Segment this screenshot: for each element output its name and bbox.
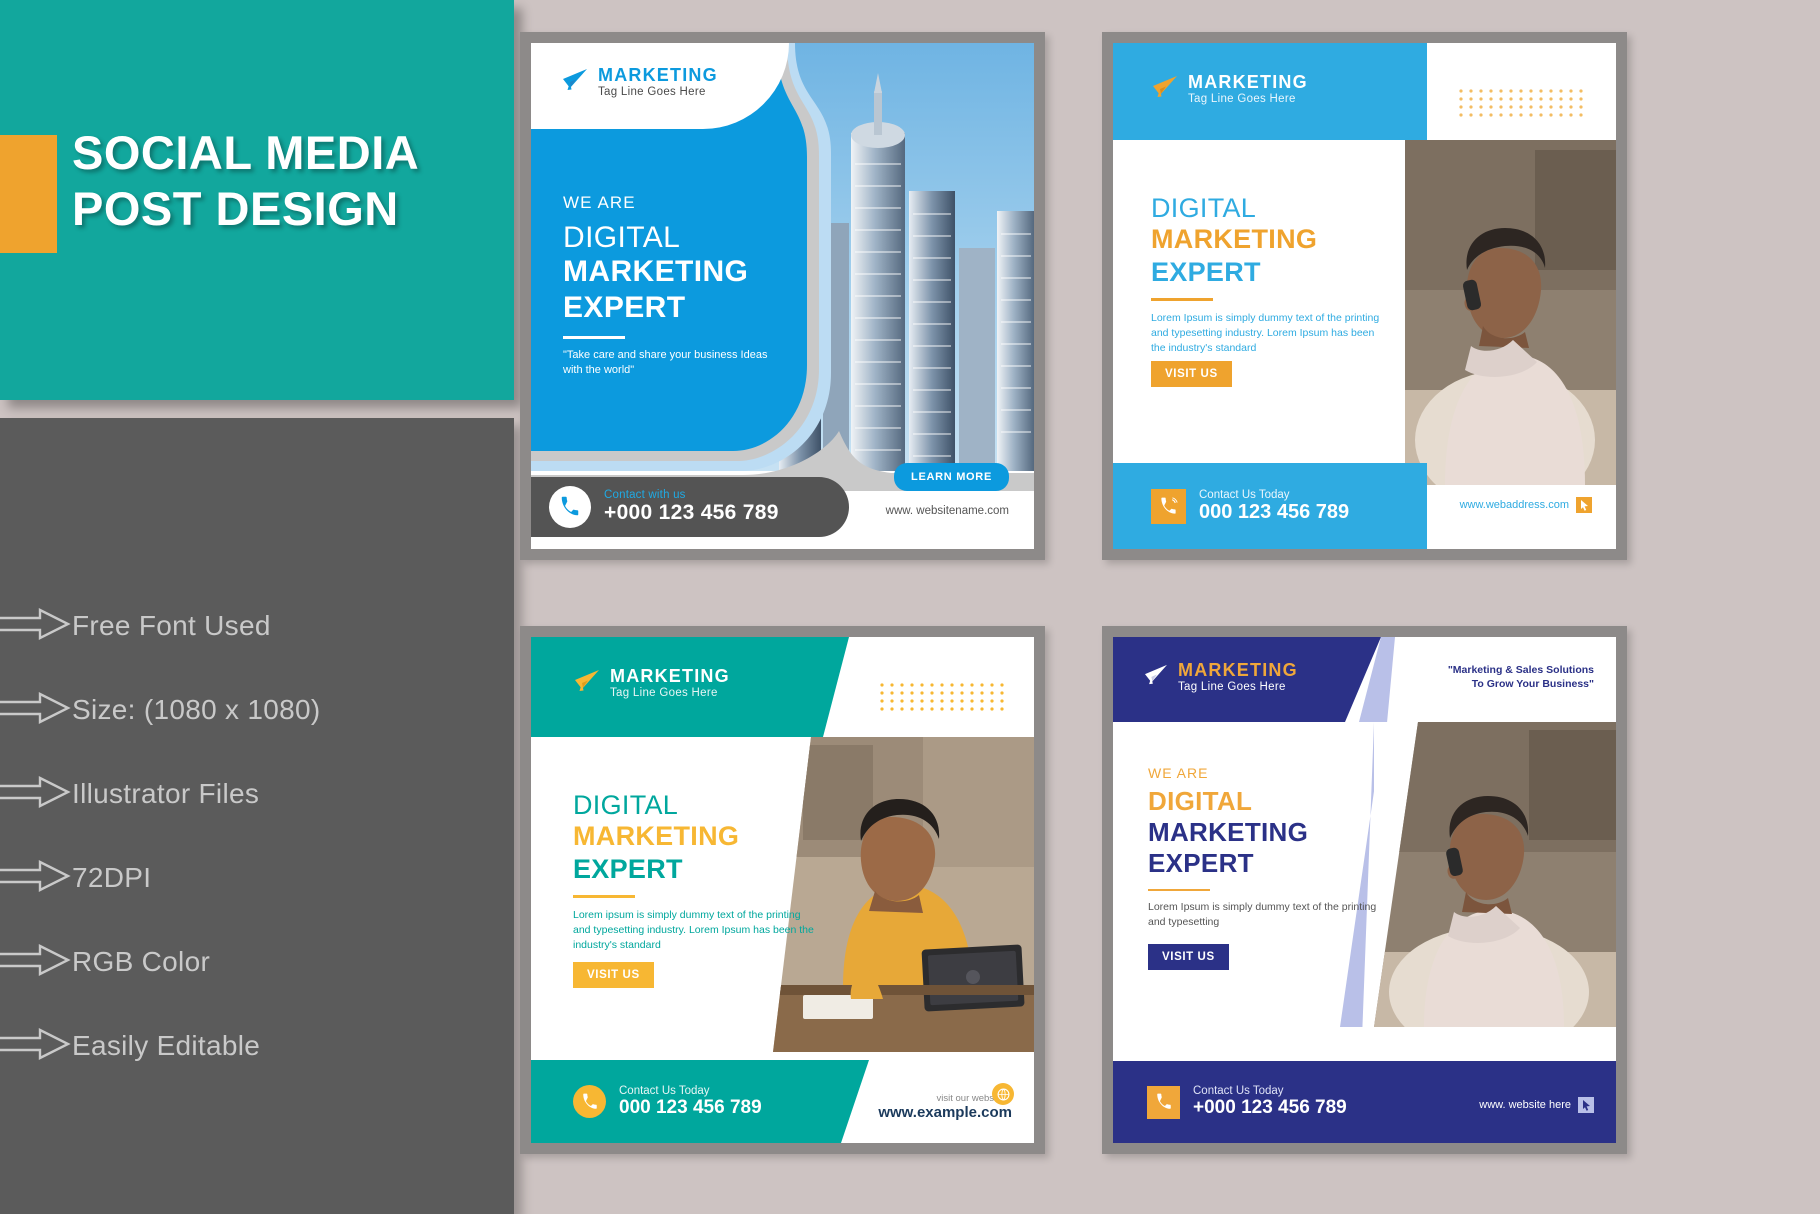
phone-ringing-icon (1151, 489, 1186, 524)
post-preview-blue-skyline[interactable]: MARKETING Tag Line Goes Here WE ARE DIGI… (520, 32, 1045, 560)
header-tagline-line2: To Grow Your Business" (1448, 677, 1594, 691)
learn-more-button[interactable]: LEARN MORE (894, 463, 1009, 491)
list-item: Easily Editable (0, 1004, 514, 1088)
spec-label: Size: (1080 x 1080) (72, 694, 321, 726)
phone-icon (549, 486, 591, 528)
website-link[interactable]: visit our website... www.example.com (878, 1093, 1012, 1121)
paper-plane-icon (573, 669, 601, 698)
brand-tagline: Tag Line Goes Here (1178, 680, 1298, 694)
cover-title-panel: SOCIAL MEDIA POST DESIGN (0, 0, 514, 400)
globe-icon (992, 1083, 1014, 1105)
spec-label: 72DPI (72, 862, 151, 894)
title-accent-block (0, 135, 57, 253)
divider-rule (563, 336, 625, 339)
headline-expert: EXPERT (1148, 848, 1383, 879)
contact-footer-bar: Contact with us +000 123 456 789 (531, 477, 849, 537)
paper-plane-icon (561, 68, 589, 97)
brand-tagline: Tag Line Goes Here (598, 85, 718, 99)
body-text: Lorem Ipsum is simply dummy text of the … (1148, 900, 1383, 930)
divider-rule (1151, 298, 1213, 301)
website-url: www.example.com (878, 1104, 1012, 1121)
post-copy-block: WE ARE DIGITAL MARKETING EXPERT "Take ca… (563, 193, 778, 378)
arrow-right-outline-icon (0, 775, 72, 814)
halftone-dots-icon (1458, 88, 1586, 123)
post-copy-block: DIGITAL MARKETING EXPERT Lorem ipsum is … (573, 790, 818, 953)
cursor-icon (1578, 1097, 1594, 1113)
left-info-column: SOCIAL MEDIA POST DESIGN Free Font Used … (0, 0, 520, 1214)
divider-rule (573, 895, 635, 898)
halftone-dots-icon (879, 682, 1007, 717)
brand-logo-text: MARKETING Tag Line Goes Here (598, 66, 718, 99)
businessman-phone-photo (1405, 140, 1616, 485)
website-url: www.webaddress.com (1460, 499, 1569, 511)
headline-marketing: MARKETING (1151, 223, 1391, 255)
headline-marketing: MARKETING (1148, 817, 1383, 848)
list-item: Illustrator Files (0, 752, 514, 836)
brand-tagline: Tag Line Goes Here (1188, 92, 1308, 106)
headline-digital: DIGITAL (573, 790, 818, 820)
body-text: Lorem Ipsum is simply dummy text of the … (1151, 311, 1391, 357)
list-item: Size: (1080 x 1080) (0, 668, 514, 752)
arrow-right-outline-icon (0, 859, 72, 898)
contact-info: Contact Us Today 000 123 456 789 (619, 1085, 762, 1119)
spec-label: Easily Editable (72, 1030, 260, 1062)
brand-logo: MARKETING Tag Line Goes Here (1143, 661, 1298, 694)
brand-name: MARKETING (1178, 661, 1298, 680)
brand-logo: MARKETING Tag Line Goes Here (573, 667, 730, 700)
page-title-line1: SOCIAL MEDIA (72, 125, 492, 181)
contact-number: +000 123 456 789 (604, 501, 779, 525)
contact-info: Contact Us Today 000 123 456 789 (1199, 489, 1349, 524)
brand-logo-text: MARKETING Tag Line Goes Here (1178, 661, 1298, 694)
quote-text: "Take care and share your business Ideas… (563, 348, 778, 378)
contact-info: Contact with us +000 123 456 789 (604, 489, 779, 525)
headline-expert: EXPERT (563, 290, 778, 325)
headline-digital: DIGITAL (1151, 193, 1391, 223)
spec-list: Free Font Used Size: (1080 x 1080) Illus… (0, 584, 514, 1088)
brand-name: MARKETING (610, 667, 730, 686)
brand-tagline: Tag Line Goes Here (610, 686, 730, 700)
website-url[interactable]: www. websitename.com (886, 505, 1009, 517)
headline-digital: DIGITAL (563, 222, 778, 254)
brand-logo-text: MARKETING Tag Line Goes Here (1188, 73, 1308, 106)
brand-logo-text: MARKETING Tag Line Goes Here (610, 667, 730, 700)
spec-label: RGB Color (72, 946, 210, 978)
eyebrow-text: WE ARE (563, 193, 778, 213)
eyebrow-text: WE ARE (1148, 765, 1383, 781)
post-copy-block: WE ARE DIGITAL MARKETING EXPERT Lorem Ip… (1148, 765, 1383, 931)
arrow-right-outline-icon (0, 943, 72, 982)
page-title-line2: POST DESIGN (72, 181, 492, 237)
contact-label: Contact with us (604, 489, 779, 501)
list-item: Free Font Used (0, 584, 514, 668)
contact-label: Contact Us Today (1199, 489, 1349, 501)
phone-icon (573, 1085, 606, 1118)
headline-digital: DIGITAL (1148, 786, 1383, 817)
headline-expert: EXPERT (573, 853, 818, 885)
contact-info: Contact Us Today +000 123 456 789 (1193, 1085, 1347, 1119)
paper-plane-icon (1143, 664, 1169, 691)
header-tagline: "Marketing & Sales Solutions To Grow You… (1448, 663, 1594, 691)
phone-icon (1147, 1086, 1180, 1119)
spec-label: Illustrator Files (72, 778, 259, 810)
website-link[interactable]: www. website here (1479, 1097, 1594, 1113)
businessman-phone-photo (1374, 722, 1616, 1027)
post-previews-grid: MARKETING Tag Line Goes Here WE ARE DIGI… (520, 0, 1820, 1214)
visit-us-button[interactable]: VISIT US (573, 962, 654, 988)
body-text: Lorem ipsum is simply dummy text of the … (573, 908, 818, 954)
spec-label: Free Font Used (72, 610, 271, 642)
arrow-right-outline-icon (0, 607, 72, 646)
contact-label: Contact Us Today (619, 1085, 762, 1097)
post-preview-teal-white[interactable]: MARKETING Tag Line Goes Here (520, 626, 1045, 1154)
post-preview-navy-white[interactable]: MARKETING Tag Line Goes Here "Marketing … (1102, 626, 1627, 1154)
headline-marketing: MARKETING (573, 820, 818, 852)
website-url: www. website here (1479, 1099, 1571, 1111)
visit-us-button[interactable]: VISIT US (1148, 944, 1229, 970)
paper-plane-icon (1151, 75, 1179, 104)
brand-name: MARKETING (1188, 73, 1308, 92)
headline-expert: EXPERT (1151, 256, 1391, 288)
contact-footer-bar: Contact Us Today 000 123 456 789 (1113, 463, 1427, 549)
visit-us-button[interactable]: VISIT US (1151, 361, 1232, 387)
page-title: SOCIAL MEDIA POST DESIGN (72, 125, 492, 237)
list-item: 72DPI (0, 836, 514, 920)
brand-name: MARKETING (598, 66, 718, 85)
brand-logo: MARKETING Tag Line Goes Here (1151, 73, 1308, 106)
header-tagline-line1: "Marketing & Sales Solutions (1448, 663, 1594, 677)
divider-rule (1148, 889, 1210, 892)
arrow-right-outline-icon (0, 691, 72, 730)
website-link[interactable]: www.webaddress.com (1460, 497, 1592, 513)
cursor-icon (1576, 497, 1592, 513)
contact-number: +000 123 456 789 (1193, 1097, 1347, 1119)
post-preview-blue-white[interactable]: MARKETING Tag Line Goes Here (1102, 32, 1627, 560)
headline-marketing: MARKETING (563, 254, 778, 289)
brand-logo: MARKETING Tag Line Goes Here (561, 66, 718, 99)
contact-number: 000 123 456 789 (619, 1097, 762, 1119)
spec-panel: Free Font Used Size: (1080 x 1080) Illus… (0, 418, 514, 1214)
arrow-right-outline-icon (0, 1027, 72, 1066)
contact-number: 000 123 456 789 (1199, 501, 1349, 524)
post-copy-block: DIGITAL MARKETING EXPERT Lorem Ipsum is … (1151, 193, 1391, 356)
contact-label: Contact Us Today (1193, 1085, 1347, 1097)
list-item: RGB Color (0, 920, 514, 1004)
